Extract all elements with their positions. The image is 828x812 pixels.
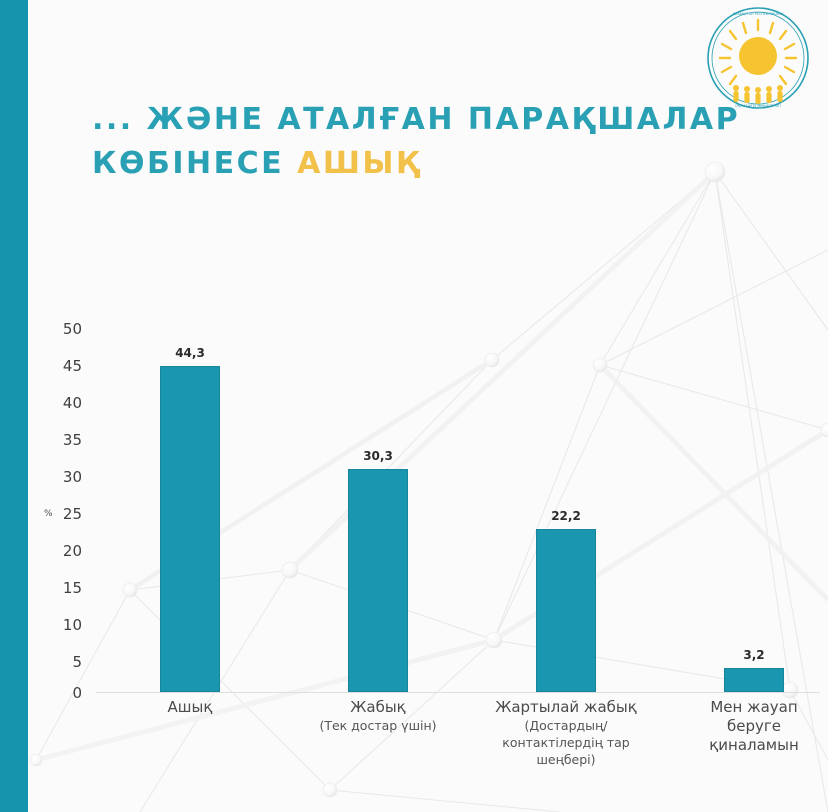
y-axis-tick: 40 <box>38 394 82 412</box>
bar-zhabyq[interactable] <box>348 469 408 692</box>
title-line-1: ... ЖӘНЕ АТАЛҒАН ПАРАҚШАЛАР <box>92 98 752 142</box>
bar-value-label: 30,3 <box>338 449 418 463</box>
category-label-main: Жартылай жабық <box>495 698 637 716</box>
category-label-sub: (Достардың/ контактілердің тар шеңбері) <box>476 717 656 768</box>
y-axis-tick: 35 <box>38 431 82 449</box>
category-label-main: Ашық <box>168 698 213 716</box>
ministry-emblem-logo: ҚАЗАҚСТАН РЕСПУБЛИКАСЫ ОҚУ-АҒАРТУ МИНИСТ… <box>706 6 810 110</box>
bar-zhartylai-zhabyq[interactable] <box>536 529 596 692</box>
bar-ashyq[interactable] <box>160 366 220 692</box>
bar-qinalamyn[interactable] <box>724 668 784 692</box>
x-axis-baseline <box>96 692 820 693</box>
page-title: ... ЖӘНЕ АТАЛҒАН ПАРАҚШАЛАР КӨБІНЕСЕ АШЫ… <box>92 98 752 186</box>
y-axis-tick: 20 <box>38 542 82 560</box>
x-axis-category-label: Жартылай жабық (Достардың/ контактілерді… <box>476 698 656 768</box>
y-axis-tick: 15 <box>38 579 82 597</box>
bar-value-label: 3,2 <box>714 648 794 662</box>
x-axis-category-label: Ашық <box>110 698 270 717</box>
x-axis-category-label: Мен жауап беруге қиналамын <box>686 698 822 755</box>
bar-value-label: 22,2 <box>526 509 606 523</box>
category-label-main: Мен жауап беруге қиналамын <box>709 698 799 754</box>
title-highlight-word: АШЫҚ <box>297 146 422 181</box>
y-axis-tick: 45 <box>38 357 82 375</box>
category-label-sub: (Тек достар үшін) <box>293 717 463 734</box>
y-axis-tick: 10 <box>38 616 82 634</box>
y-axis-tick: 5 <box>38 653 82 671</box>
y-axis-tick: 30 <box>38 468 82 486</box>
x-axis-category-label: Жабық (Тек достар үшін) <box>293 698 463 734</box>
title-line-2: КӨБІНЕСЕ АШЫҚ <box>92 142 752 186</box>
category-label-main: Жабық <box>350 698 406 716</box>
y-axis-unit-label: % <box>44 509 53 519</box>
left-accent-bar <box>0 0 28 812</box>
y-axis-tick: 50 <box>38 320 82 338</box>
bar-value-label: 44,3 <box>150 346 230 360</box>
slide-canvas: ҚАЗАҚСТАН РЕСПУБЛИКАСЫ ОҚУ-АҒАРТУ МИНИСТ… <box>0 0 828 812</box>
title-line-2-plain: КӨБІНЕСЕ <box>92 146 297 181</box>
y-axis-tick: 0 <box>38 684 82 702</box>
svg-text:ҚАЗАҚСТАН РЕСПУБЛИКАСЫ: ҚАЗАҚСТАН РЕСПУБЛИКАСЫ <box>733 12 784 16</box>
